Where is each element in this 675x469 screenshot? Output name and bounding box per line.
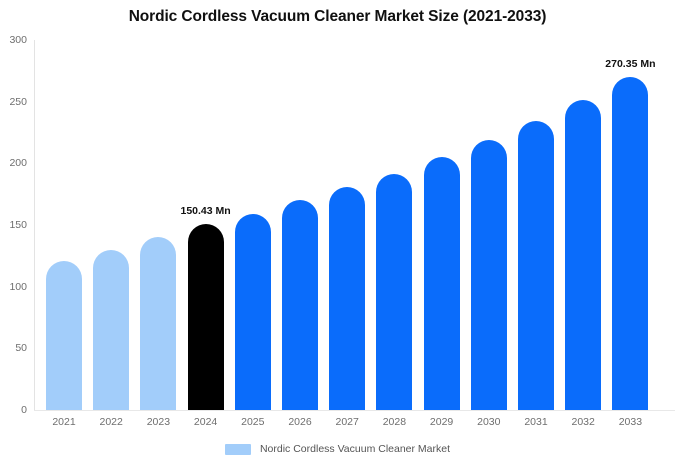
x-tick-label-2023: 2023 [140, 416, 176, 428]
bar-value-label: 270.35 Mn [605, 58, 655, 70]
y-tick-label: 150 [9, 219, 27, 231]
bar-2027[interactable] [329, 187, 365, 410]
bar-2031[interactable] [518, 121, 554, 410]
bar-2023[interactable] [140, 237, 176, 410]
bar-2022[interactable] [93, 250, 129, 410]
legend-label: Nordic Cordless Vacuum Cleaner Market [260, 443, 450, 455]
bar-2030[interactable] [471, 140, 507, 410]
bar-2021[interactable] [46, 261, 82, 410]
y-tick-label: 300 [9, 34, 27, 46]
bar-slot [376, 40, 412, 410]
y-tick-label: 100 [9, 281, 27, 293]
bar-slot [235, 40, 271, 410]
bar-2024[interactable] [188, 224, 224, 410]
bar-2028[interactable] [376, 174, 412, 410]
y-tick-label: 200 [9, 157, 27, 169]
y-tick-label: 0 [21, 404, 27, 416]
x-tick-label-2030: 2030 [471, 416, 507, 428]
bar-slot: 150.43 Mn [188, 40, 224, 410]
bar-value-label: 150.43 Mn [180, 205, 230, 217]
x-tick-label-2027: 2027 [329, 416, 365, 428]
x-tick-label-2029: 2029 [424, 416, 460, 428]
bar-2029[interactable] [424, 157, 460, 410]
bar-2026[interactable] [282, 200, 318, 410]
bar-slot [471, 40, 507, 410]
bar-slot [424, 40, 460, 410]
x-tick-label-2026: 2026 [282, 416, 318, 428]
x-tick-label-2021: 2021 [46, 416, 82, 428]
bar-2025[interactable] [235, 214, 271, 410]
bar-2032[interactable] [565, 100, 601, 410]
plot-area: 050100150200250300 150.43 Mn270.35 Mn [34, 40, 675, 410]
bar-slot [140, 40, 176, 410]
legend-swatch-icon [225, 444, 251, 455]
bar-slot [46, 40, 82, 410]
x-tick-label-2025: 2025 [235, 416, 271, 428]
x-tick-label-2033: 2033 [612, 416, 648, 428]
x-tick-label-2024: 2024 [188, 416, 224, 428]
x-tick-label-2031: 2031 [518, 416, 554, 428]
x-tick-label-2028: 2028 [376, 416, 412, 428]
y-tick-label: 250 [9, 96, 27, 108]
x-tick-label-2022: 2022 [93, 416, 129, 428]
bar-slot [565, 40, 601, 410]
bar-slot [329, 40, 365, 410]
chart-title: Nordic Cordless Vacuum Cleaner Market Si… [0, 8, 675, 26]
bar-slot [518, 40, 554, 410]
bar-slot [282, 40, 318, 410]
x-axis-baseline [34, 410, 675, 411]
bar-slot [93, 40, 129, 410]
bar-chart: Nordic Cordless Vacuum Cleaner Market Si… [0, 0, 675, 469]
bar-2033[interactable] [612, 77, 648, 410]
y-tick-label: 50 [15, 342, 27, 354]
bar-slot: 270.35 Mn [612, 40, 648, 410]
x-tick-label-2032: 2032 [565, 416, 601, 428]
chart-legend: Nordic Cordless Vacuum Cleaner Market [0, 443, 675, 455]
